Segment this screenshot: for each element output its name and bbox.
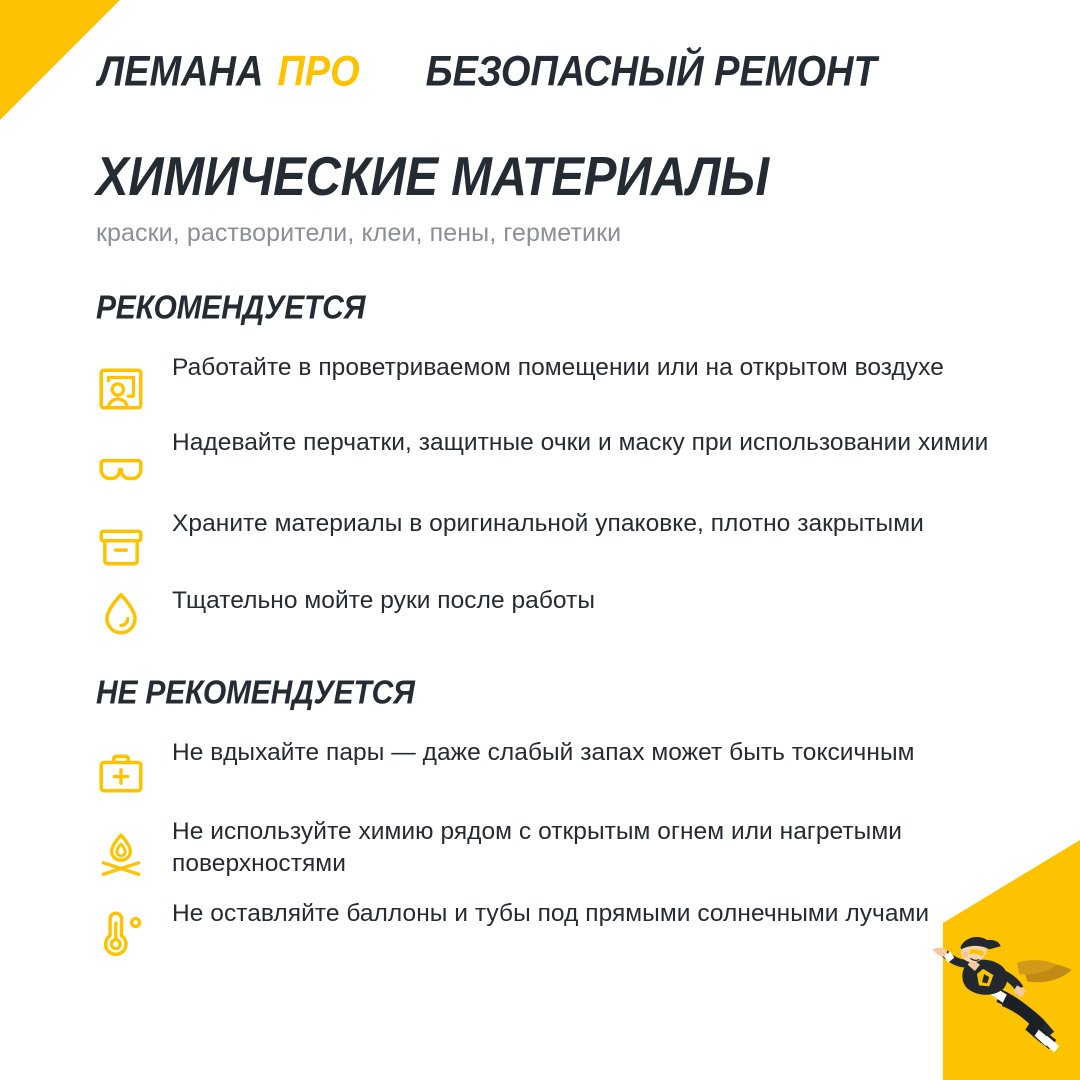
icon-wrap	[96, 585, 172, 639]
not-recommended-list: Не вдыхайте пары — даже слабый запах мож…	[96, 737, 1020, 975]
page-title: ХИМИЧЕСКИЕ МАТЕРИАЛЫ	[96, 150, 1020, 205]
list-item: Храните материалы в оригинальной упаковк…	[96, 508, 1020, 572]
list-item-text: Работайте в проветриваемом помещении или…	[172, 352, 944, 384]
section-heading-recommended: РЕКОМЕНДУЕТСЯ	[96, 290, 1020, 327]
icon-wrap	[96, 427, 172, 495]
icon-wrap	[96, 508, 172, 572]
icon-wrap	[96, 737, 172, 799]
infographic-page: ЛЕМАНАПРО БЕЗОПАСНЫЙ РЕМОНТ ХИМИЧЕСКИЕ М…	[0, 0, 1080, 1080]
thermometer-sun-icon	[96, 908, 146, 958]
logo-primary-text: ЛЕМАНА	[98, 48, 263, 96]
title-block: ХИМИЧЕСКИЕ МАТЕРИАЛЫ краски, растворител…	[96, 150, 1020, 248]
brand-logo: ЛЕМАНАПРО	[98, 48, 360, 96]
list-item-text: Тщательно мойте руки после работы	[172, 585, 595, 617]
list-item-text: Не вдыхайте пары — даже слабый запах мож…	[172, 737, 915, 769]
safety-goggles-icon	[96, 445, 146, 495]
list-item: Не вдыхайте пары — даже слабый запах мож…	[96, 737, 1020, 799]
icon-wrap	[96, 898, 172, 958]
icon-wrap	[96, 352, 172, 414]
header: ЛЕМАНАПРО БЕЗОПАСНЫЙ РЕМОНТ	[98, 44, 1020, 100]
ventilated-window-icon	[96, 364, 146, 414]
logo-accent-text: ПРО	[277, 48, 359, 96]
storage-box-icon	[96, 522, 146, 572]
list-item: Работайте в проветриваемом помещении или…	[96, 352, 1020, 414]
section-not-recommended: НЕ РЕКОМЕНДУЕТСЯ Не вдыхайте пары — даже…	[96, 675, 1020, 975]
list-item-text: Не используйте химию рядом с открытым ог…	[172, 816, 1020, 881]
recommended-list: Работайте в проветриваемом помещении или…	[96, 352, 1020, 652]
list-item-text: Не оставляйте баллоны и тубы под прямыми…	[172, 898, 929, 930]
campaign-title: БЕЗОПАСНЫЙ РЕМОНТ	[426, 48, 877, 96]
list-item: Тщательно мойте руки после работы	[96, 585, 1020, 639]
list-item: Надевайте перчатки, защитные очки и маск…	[96, 427, 1020, 495]
list-item: Не используйте химию рядом с открытым ог…	[96, 816, 1020, 881]
water-drop-icon	[96, 589, 146, 639]
first-aid-kit-icon	[96, 749, 146, 799]
list-item: Не оставляйте баллоны и тубы под прямыми…	[96, 898, 1020, 958]
list-item-text: Храните материалы в оригинальной упаковк…	[172, 508, 924, 540]
list-item-text: Надевайте перчатки, защитные очки и маск…	[172, 427, 988, 459]
campfire-icon	[96, 830, 146, 880]
section-recommended: РЕКОМЕНДУЕТСЯ Работайте в проветриваемом…	[96, 290, 1020, 652]
page-subtitle: краски, растворители, клеи, пены, гермет…	[96, 219, 1020, 248]
section-heading-not-recommended: НЕ РЕКОМЕНДУЕТСЯ	[96, 675, 1020, 712]
icon-wrap	[96, 816, 172, 880]
